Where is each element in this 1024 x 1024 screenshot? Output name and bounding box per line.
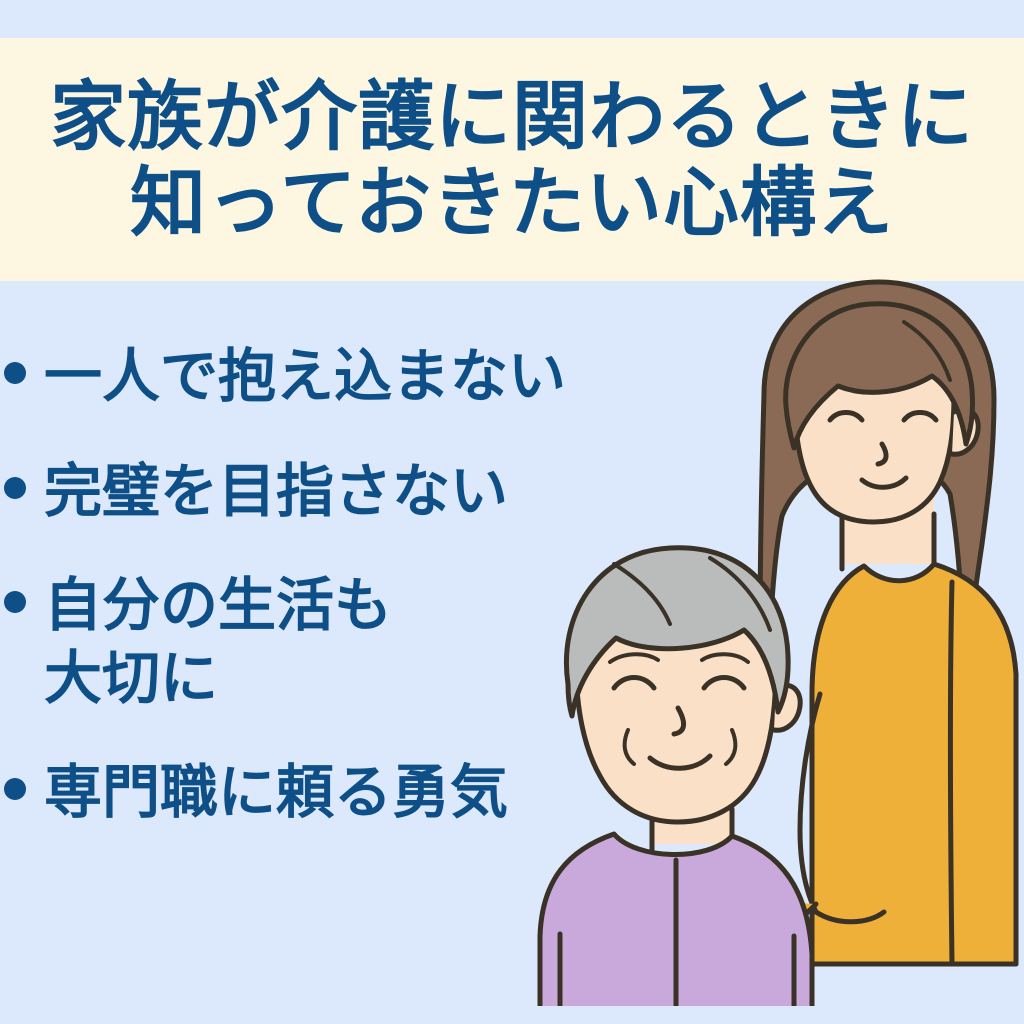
bullet-text: 完璧を目指さない (44, 455, 508, 528)
poster-title-line-1: 家族が介護に関わるときに (50, 74, 974, 159)
bullet-text: 自分の生活も 大切に (44, 569, 392, 714)
poster-title-line-2: 知っておきたい心構え (130, 160, 894, 245)
caregiver-illustration (464, 264, 1024, 1024)
top-strip (0, 0, 1024, 38)
poster-root: 家族が介護に関わるときに 知っておきたい心構え 一人で抱え込まない 完璧を目指さ… (0, 0, 1024, 1024)
title-band: 家族が介護に関わるときに 知っておきたい心構え (0, 38, 1024, 281)
bullet-dot-icon (4, 477, 26, 499)
bottom-strip (0, 1006, 1024, 1024)
bullet-dot-icon (4, 362, 26, 384)
bullet-text-line-1: 完璧を目指さない (44, 457, 508, 525)
bullet-text-line-1: 専門職に頼る勇気 (44, 758, 508, 826)
bullet-text-line-2: 大切に (44, 642, 392, 715)
bullet-text-line-1: 自分の生活も (44, 571, 392, 639)
bullet-dot-icon (4, 591, 26, 613)
bullet-text: 専門職に頼る勇気 (44, 756, 508, 829)
bullet-dot-icon (4, 778, 26, 800)
